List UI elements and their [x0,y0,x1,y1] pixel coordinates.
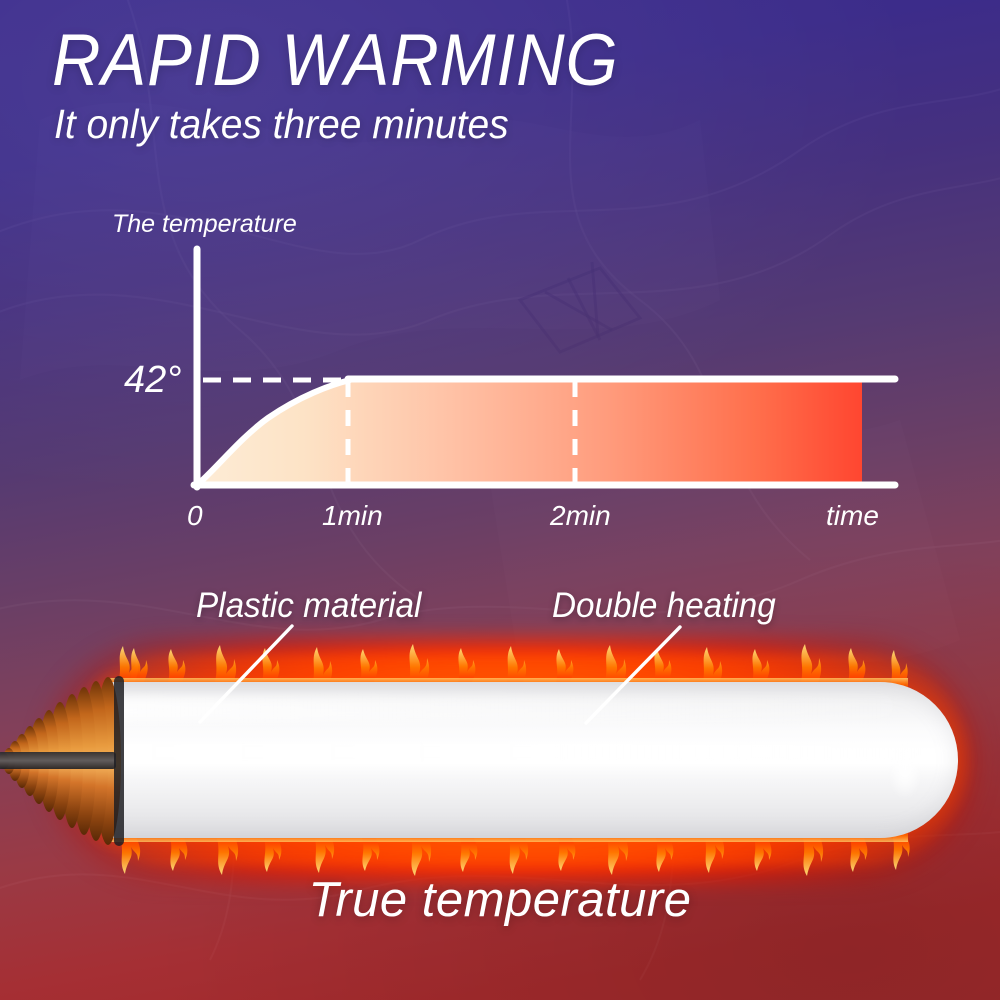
chart-area-fill [197,375,862,487]
chart-xtick-2min: 2min [549,500,611,531]
product-illustration [0,660,1000,860]
callout-double-heating: Double heating [552,586,776,626]
page-title: RAPID WARMING [52,24,619,97]
product-body [100,682,958,838]
chart-xtick-1min: 1min [322,500,383,531]
chart-y-axis-label: The temperature [112,210,297,238]
product-ribbed-tip [0,666,166,856]
product-dome-highlight [888,746,922,800]
chart-xtick-0: 0 [187,500,203,531]
chart-x-axis-label: time [826,500,879,531]
chart-target-temperature-label: 42° [124,359,181,401]
footer-caption: True temperature [0,872,1000,928]
poster: RAPID WARMING It only takes three minute… [0,0,1000,1000]
chart-curve [197,380,350,485]
page-subtitle: It only takes three minutes [54,104,509,145]
callout-plastic-material: Plastic material [196,586,421,626]
